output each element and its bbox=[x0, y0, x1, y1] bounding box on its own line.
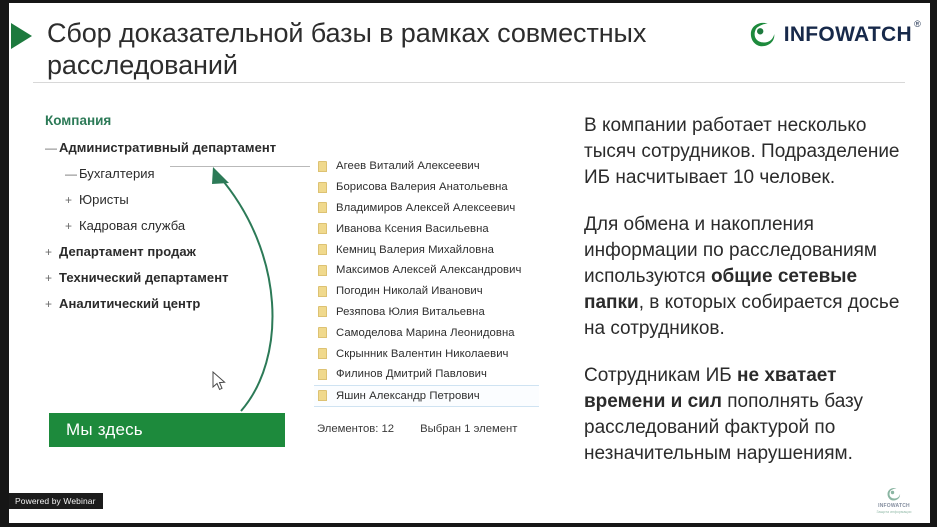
status-items-count: Элементов: 12 bbox=[317, 423, 394, 435]
header-divider bbox=[33, 82, 905, 83]
tree-item-label: Аналитический центр bbox=[59, 296, 200, 311]
infowatch-logo: INFOWATCH® bbox=[748, 21, 912, 49]
tree-item-label: Технический департамент bbox=[59, 270, 229, 285]
paragraph-1-text: В компании работает несколько тысяч сотр… bbox=[584, 115, 900, 188]
file-row[interactable]: Резяпова Юлия Витальевна bbox=[314, 302, 539, 323]
folder-icon bbox=[318, 223, 327, 234]
collapse-icon[interactable]: — bbox=[65, 167, 79, 181]
tree-item[interactable]: +Юристы bbox=[45, 192, 305, 207]
expand-icon[interactable]: + bbox=[65, 193, 79, 207]
tree-item-label: Департамент продаж bbox=[59, 244, 196, 259]
file-list[interactable]: Агеев Виталий АлексеевичБорисова Валерия… bbox=[314, 156, 539, 407]
file-name-label: Владимиров Алексей Алексеевич bbox=[336, 202, 515, 214]
tree-root-label: Компания bbox=[45, 113, 305, 128]
description-column: В компании работает несколько тысяч сотр… bbox=[584, 113, 914, 488]
logo-wordmark: INFOWATCH bbox=[784, 23, 912, 46]
tree-item-label: Кадровая служба bbox=[79, 218, 185, 233]
tree-item-label: Административный департамент bbox=[59, 140, 276, 155]
folder-icon bbox=[318, 202, 327, 213]
file-name-label: Яшин Александр Петрович bbox=[336, 390, 480, 402]
file-name-label: Максимов Алексей Александрович bbox=[336, 264, 521, 276]
expand-icon[interactable]: + bbox=[65, 219, 79, 233]
file-row[interactable]: Агеев Виталий Алексеевич bbox=[314, 156, 539, 177]
status-selected-count: Выбран 1 элемент bbox=[420, 423, 517, 435]
slide-canvas: Сбор доказательной базы в рамках совмест… bbox=[0, 0, 937, 527]
file-row[interactable]: Погодин Николай Иванович bbox=[314, 281, 539, 302]
file-row[interactable]: Кемниц Валерия Михайловна bbox=[314, 239, 539, 260]
logo-text: INFOWATCH® bbox=[784, 23, 912, 47]
file-row[interactable]: Иванова Ксения Васильевна bbox=[314, 218, 539, 239]
file-rows: Агеев Виталий АлексеевичБорисова Валерия… bbox=[314, 156, 539, 407]
tree-item[interactable]: —Бухгалтерия bbox=[45, 166, 305, 181]
folder-icon bbox=[318, 286, 327, 297]
expand-icon[interactable]: + bbox=[45, 297, 59, 311]
file-row[interactable]: Самоделова Марина Леонидовна bbox=[314, 322, 539, 343]
folder-icon bbox=[318, 265, 327, 276]
folder-icon bbox=[318, 244, 327, 255]
infowatch-eye-swirl-icon bbox=[748, 21, 778, 49]
file-row-selected[interactable]: Яшин Александр Петрович bbox=[314, 385, 539, 407]
org-tree: Компания —Административный департамент—Б… bbox=[45, 113, 305, 322]
corner-logo-subtext: Защита информации bbox=[877, 510, 912, 514]
file-name-label: Кемниц Валерия Михайловна bbox=[336, 244, 494, 256]
folder-icon bbox=[318, 161, 327, 172]
tree-item[interactable]: +Аналитический центр bbox=[45, 296, 305, 311]
tree-item-label: Юристы bbox=[79, 192, 129, 207]
file-name-label: Иванова Ксения Васильевна bbox=[336, 223, 489, 235]
file-name-label: Филинов Дмитрий Павлович bbox=[336, 368, 487, 380]
file-row[interactable]: Борисова Валерия Анатольевна bbox=[314, 177, 539, 198]
expand-icon[interactable]: + bbox=[45, 245, 59, 259]
slide-header: Сбор доказательной базы в рамках совмест… bbox=[9, 3, 930, 83]
tree-item-label: Бухгалтерия bbox=[79, 166, 155, 181]
tree-item[interactable]: +Департамент продаж bbox=[45, 244, 305, 259]
file-row[interactable]: Максимов Алексей Александрович bbox=[314, 260, 539, 281]
file-name-label: Самоделова Марина Леонидовна bbox=[336, 327, 515, 339]
corner-logo-icon bbox=[886, 487, 902, 502]
we-are-here-banner: Мы здесь bbox=[49, 413, 285, 447]
file-name-label: Погодин Николай Иванович bbox=[336, 285, 483, 297]
tree-item[interactable]: —Административный департамент bbox=[45, 140, 305, 155]
file-row[interactable]: Владимиров Алексей Алексеевич bbox=[314, 198, 539, 219]
file-row[interactable]: Филинов Дмитрий Павлович bbox=[314, 364, 539, 385]
file-row[interactable]: Скрынник Валентин Николаевич bbox=[314, 343, 539, 364]
green-triangle-icon bbox=[11, 23, 32, 49]
corner-logo-text: INFOWATCH bbox=[878, 503, 910, 509]
collapse-icon[interactable]: — bbox=[45, 141, 59, 155]
page-title: Сбор доказательной базы в рамках совмест… bbox=[47, 17, 687, 81]
file-name-label: Борисова Валерия Анатольевна bbox=[336, 181, 508, 193]
paragraph-2: Для обмена и накопления информации по ра… bbox=[584, 212, 914, 342]
powered-by-webinar-badge: Powered by Webinar bbox=[9, 493, 103, 509]
folder-icon bbox=[318, 327, 327, 338]
tree-item[interactable]: +Технический департамент bbox=[45, 270, 305, 285]
file-name-label: Резяпова Юлия Витальевна bbox=[336, 306, 485, 318]
corner-infowatch-watermark: INFOWATCH Защита информации bbox=[868, 483, 920, 517]
file-name-label: Агеев Виталий Алексеевич bbox=[336, 160, 480, 172]
folder-icon bbox=[318, 348, 327, 359]
mouse-cursor-icon bbox=[212, 371, 228, 391]
paragraph-3: Сотрудникам ИБ не хватает времени и сил … bbox=[584, 363, 914, 467]
paragraph-3-text-a: Сотрудникам ИБ bbox=[584, 365, 737, 386]
folder-icon bbox=[318, 182, 327, 193]
paragraph-1: В компании работает несколько тысяч сотр… bbox=[584, 113, 914, 191]
file-name-label: Скрынник Валентин Николаевич bbox=[336, 348, 509, 360]
expand-icon[interactable]: + bbox=[45, 271, 59, 285]
tree-connector-line bbox=[170, 166, 310, 167]
folder-icon bbox=[318, 306, 327, 317]
tree-item[interactable]: +Кадровая служба bbox=[45, 218, 305, 233]
folder-icon bbox=[318, 390, 327, 401]
folder-icon bbox=[318, 369, 327, 380]
registered-mark: ® bbox=[914, 19, 921, 29]
explorer-status-bar: Элементов: 12 Выбран 1 элемент bbox=[317, 423, 517, 435]
